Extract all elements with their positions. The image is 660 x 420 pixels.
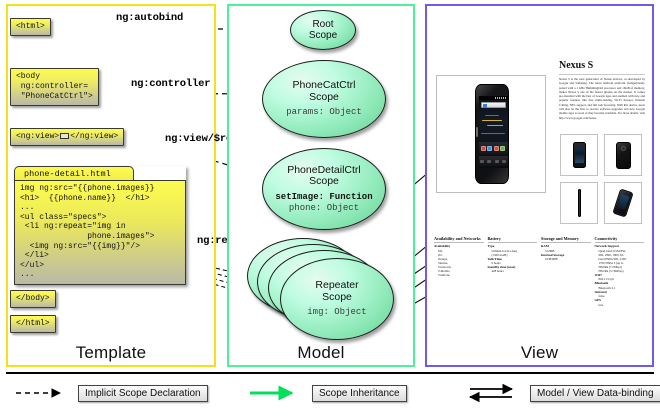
panel-view-label: View [427, 343, 652, 363]
spec-val-availability: M1,O2,Orange,Sunrise,Swisscom,T-Mobile,V… [434, 249, 484, 278]
green-arrow-icon [248, 384, 304, 402]
spec-column-connectivity: Connectivity Network Support Quad-band G… [595, 236, 645, 307]
product-title: Nexus S [559, 60, 593, 71]
phone-back-thumb-image [616, 142, 631, 169]
phone-front-thumb-image [573, 142, 586, 168]
spec-header-availability: Availability and Networks [434, 236, 484, 243]
scope-repeater: Repeater Scope img: Object [280, 258, 394, 340]
spec-header-connectivity: Connectivity [595, 236, 645, 243]
phone-wallpaper [479, 111, 508, 139]
legend-item-model-view-data-binding: Model / View Data-binding [466, 384, 660, 402]
ngview-open-text: <ng:view> [16, 132, 59, 141]
spec-column-availability: Availability and Networks Availability M… [434, 236, 484, 307]
spec-column-storage: Storage and Memory RAM 512MB Internal St… [541, 236, 591, 307]
scope-phonecatctrl-title-1: PhoneCatCtrl [292, 80, 355, 92]
title-divider [559, 74, 645, 75]
spec-header-battery: Battery [488, 236, 538, 243]
legend-item-scope-inheritance: Scope Inheritance [248, 384, 407, 402]
spec-val-battery-type: Lithium Ion (Li-Ion)(1500 mAH) [488, 249, 538, 257]
specs-table: Availability and Networks Availability M… [434, 236, 644, 307]
legend-item-implicit-scope-declaration: Implicit Scope Declaration [14, 384, 208, 402]
thumbnail-angled-view[interactable] [604, 182, 642, 224]
scope-phonedetailctrl-title-2: Scope [309, 176, 339, 188]
code-ngview-tag: <ng:view></ng:view> [10, 128, 124, 146]
label-ng-autobind: ng:autobind [116, 12, 183, 24]
dashed-arrow-icon [14, 384, 70, 402]
scope-repeater-stack: Repeater Scope img: Object [247, 238, 402, 348]
scope-phonedetailctrl-prop-phone: phone: Object [289, 203, 359, 214]
thumbnail-edge-view[interactable] [560, 182, 598, 224]
scope-root-title-1: Root [312, 19, 333, 31]
phone-screen [479, 96, 508, 168]
legend-label-scope-inheritance: Scope Inheritance [312, 385, 407, 402]
phone-search-widget [481, 102, 506, 108]
label-ng-controller: ng:controller [131, 78, 210, 90]
code-body-close-tag: </body> [10, 290, 56, 308]
status-icons [495, 97, 507, 99]
double-arrow-icon [466, 384, 522, 402]
nav-button-home [495, 160, 499, 163]
nav-button-search [502, 160, 506, 163]
spec-val-standby: 428 hours [488, 269, 538, 273]
scope-repeater-prop-img: img: Object [307, 307, 366, 318]
note-filename: phone-detail.html [14, 166, 134, 180]
sticky-note-phone-detail-html: phone-detail.html img ng:src="{{phone.im… [14, 166, 186, 285]
scope-phonecatctrl-title-2: Scope [309, 92, 339, 104]
thumbnail-front-view[interactable] [560, 134, 598, 176]
scope-root-title-2: Scope [309, 30, 337, 42]
phone-device-image [475, 84, 509, 184]
legend: Implicit Scope Declaration Scope Inherit… [6, 384, 654, 410]
phone-status-bar [479, 96, 508, 100]
phone-angled-thumb-image [612, 188, 633, 217]
nav-button-back [480, 160, 484, 163]
spec-val-internal-storage: 16384MB [541, 257, 591, 261]
thumbnail-back-view[interactable] [604, 134, 642, 176]
code-html-close-tag: </html> [10, 315, 56, 333]
angular-scope-diagram: Template <html> <body ng:controller= "Ph… [0, 0, 660, 420]
phone-app-dock [479, 142, 508, 154]
legend-label-implicit-scope-declaration: Implicit Scope Declaration [78, 385, 208, 402]
ngview-slot-icon [60, 133, 69, 139]
main-phone-image-frame [436, 75, 546, 193]
phone-edge-thumb-image [578, 189, 581, 217]
scope-repeater-title-1: Repeater [315, 280, 358, 292]
app-icon-2 [487, 146, 492, 151]
app-icon-1 [481, 146, 486, 151]
code-html-open-tag: <html> [10, 18, 51, 36]
spec-column-battery: Battery Type Lithium Ion (Li-Ion)(1500 m… [488, 236, 538, 307]
scope-root: Root Scope [290, 10, 356, 50]
ngview-close-text: </ng:view> [70, 132, 118, 141]
nav-button-menu [487, 160, 491, 163]
product-description: Nexus S is the next generation of Nexus … [559, 77, 645, 120]
scope-phonedetailctrl: PhoneDetailCtrl Scope setImage: Function… [262, 148, 386, 230]
app-icon-4 [500, 146, 505, 151]
note-code: img ng:src="{{phone.images}} <h1> {{phon… [14, 180, 186, 285]
app-icon-3 [494, 146, 499, 151]
view-rendered-page: Nexus S Nexus S is the next generation o… [432, 40, 647, 330]
spec-val-gps: true [595, 303, 645, 307]
phone-nav-bar [479, 156, 508, 166]
scope-repeater-title-2: Scope [322, 292, 352, 304]
legend-divider [6, 372, 654, 374]
scope-phonecatctrl-prop-params: params: Object [286, 107, 362, 118]
google-icon [483, 104, 487, 108]
phone-volume-button [476, 127, 478, 137]
panel-template-label: Template [8, 343, 214, 363]
spec-header-storage: Storage and Memory [541, 236, 591, 243]
legend-label-model-view-data-binding: Model / View Data-binding [530, 385, 660, 402]
scope-phonedetailctrl-prop-setimage: setImage: Function [275, 192, 372, 203]
code-body-tag: <body ng:controller= "PhoneCatCtrl"> [10, 68, 99, 106]
scope-phonecatctrl: PhoneCatCtrl Scope params: Object [262, 60, 386, 138]
spec-val-network-support: Quad-band GSM 850,900, 1800, 1900 Tri-ba… [595, 249, 645, 274]
